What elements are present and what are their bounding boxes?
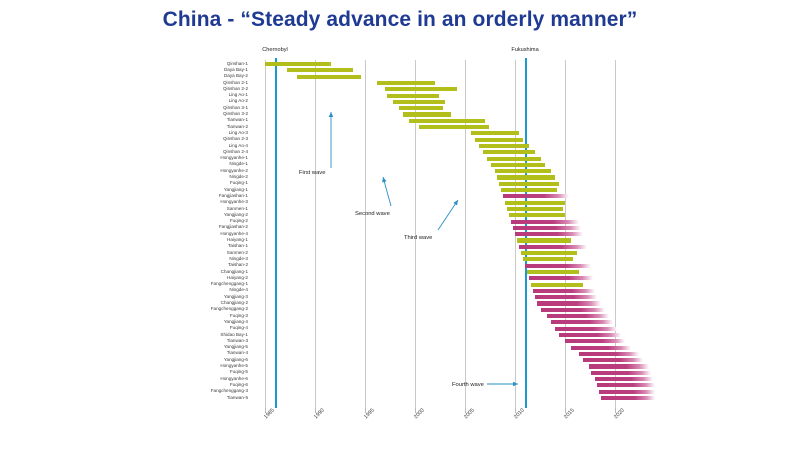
annotation-label-third-wave: Third wave: [404, 235, 432, 241]
gantt-bar: [595, 377, 653, 381]
gantt-bar: [513, 226, 581, 230]
y-axis-label: Qinshan 2-2: [223, 87, 248, 92]
y-axis-label: Yangjiang-6: [224, 358, 248, 363]
gantt-bar: [419, 125, 489, 129]
gantt-bar: [387, 94, 439, 98]
gantt-bar: [599, 390, 655, 394]
gantt-bar: [547, 314, 609, 318]
gantt-bar: [521, 251, 577, 255]
y-axis-label: Fuqing-2: [230, 219, 248, 224]
y-axis-label: Fuqing-6: [230, 383, 248, 388]
gridline-1990: [315, 60, 316, 408]
y-axis-label: Hongyanhe-4: [220, 232, 248, 237]
y-axis-label: Tianwan-1: [227, 118, 248, 123]
annotation-label-first-wave: First wave: [299, 170, 325, 176]
gantt-bar: [527, 270, 579, 274]
gantt-bar: [509, 213, 565, 217]
gantt-bar: [511, 220, 579, 224]
gantt-bar: [551, 320, 613, 324]
gantt-bar: [491, 163, 545, 167]
y-axis-label: Fangchenggang-1: [211, 282, 248, 287]
y-axis-label: Yangjiang-1: [224, 188, 248, 193]
gantt-bar: [555, 327, 617, 331]
gantt-bar: [519, 245, 587, 249]
gantt-bar: [579, 352, 639, 356]
y-axis-label: Hongyanhe-6: [220, 377, 248, 382]
gantt-bar: [559, 333, 621, 337]
gantt-bar: [475, 138, 523, 142]
y-axis-label: Fangjiashan-2: [219, 225, 248, 230]
gantt-bar: [483, 150, 535, 154]
gantt-bar: [409, 119, 485, 123]
gantt-bar: [537, 301, 601, 305]
y-axis-label: Taishan-2: [228, 263, 248, 268]
gantt-bar: [503, 194, 569, 198]
gantt-chart: ChernobylFukushima Qinshan-1Daya Bay-1Da…: [0, 46, 800, 450]
y-axis-label: Qinshan 2-3: [223, 137, 248, 142]
y-axis-label: Qinshan 2-4: [223, 150, 248, 155]
y-axis-label: Fangjiashan-1: [219, 194, 248, 199]
y-axis-label: Hongyanhe-3: [220, 200, 248, 205]
event-line-chernobyl: [275, 58, 277, 408]
gantt-bar: [507, 207, 563, 211]
gridline-1995: [365, 60, 366, 408]
gantt-bar: [297, 75, 361, 79]
annotation-arrow-icon: [479, 376, 526, 392]
y-axis-label: Tianwan-4: [227, 351, 248, 356]
y-axis-label: Fangchenggang-3: [211, 389, 248, 394]
event-label-fukushima: Fukushima: [511, 47, 538, 53]
gantt-bar: [517, 238, 571, 242]
y-axis-label: Ling Ao-1: [229, 93, 248, 98]
gantt-bar: [393, 100, 445, 104]
y-axis-label: Tianwan-2: [227, 125, 248, 130]
page-title: China - “Steady advance in an orderly ma…: [0, 8, 800, 32]
y-axis-label: Ling Ao-3: [229, 131, 248, 136]
gantt-bar: [499, 182, 559, 186]
gantt-bar: [497, 175, 555, 179]
gantt-bar: [565, 339, 625, 343]
gantt-bar: [523, 257, 573, 261]
annotation-arrow-icon: [430, 192, 466, 238]
y-axis-label: Qinshan 3-2: [223, 112, 248, 117]
gantt-bar: [529, 276, 593, 280]
y-axis-label: Yangjiang-5: [224, 345, 248, 350]
gantt-bar: [403, 112, 451, 116]
y-axis-label: Fuqing-5: [230, 370, 248, 375]
y-axis-label: Yangjiang-4: [224, 320, 248, 325]
y-axis-label: Ling Ao-4: [229, 144, 248, 149]
y-axis-label: Yangjiang-3: [224, 295, 248, 300]
y-axis-label: Ningde-4: [229, 288, 248, 293]
y-axis-label: Ningde-3: [229, 257, 248, 262]
gantt-bar: [541, 308, 605, 312]
y-axis-label: Daya Bay-1: [224, 68, 248, 73]
annotation-arrow-icon: [323, 104, 339, 176]
gantt-bar: [487, 157, 541, 161]
y-axis-label: Qinshan 3-1: [223, 106, 248, 111]
y-axis-label: Fuqing-4: [230, 326, 248, 331]
gantt-bar: [505, 201, 565, 205]
y-axis-label: Fuqing-3: [230, 314, 248, 319]
gantt-bar: [583, 358, 643, 362]
y-axis-label: Daya Bay-2: [224, 74, 248, 79]
y-axis-label: Tianwan-5: [227, 396, 248, 401]
y-axis-label: Qinshan-1: [227, 62, 248, 67]
y-axis-label: Hongyanhe-2: [220, 169, 248, 174]
gantt-bar: [571, 346, 631, 350]
gantt-bar: [525, 264, 591, 268]
event-label-chernobyl: Chernobyl: [262, 47, 288, 53]
annotation-arrow-icon: [375, 169, 399, 214]
gantt-bar: [589, 364, 649, 368]
gantt-bar: [591, 371, 651, 375]
y-axis-label: Qinshan 2-1: [223, 81, 248, 86]
y-axis-label: Changjiang-1: [221, 270, 248, 275]
slide-canvas: China - “Steady advance in an orderly ma…: [0, 0, 800, 450]
gantt-bar: [385, 87, 457, 91]
y-axis-label: Haiyang-2: [227, 276, 248, 281]
gantt-bar: [531, 283, 583, 287]
y-axis-label: Tianwan-3: [227, 339, 248, 344]
gantt-bar: [597, 383, 655, 387]
gridline-1985: [265, 60, 266, 408]
y-axis-label: Shidao Bay-1: [220, 333, 248, 338]
y-axis-label: Fuqing-1: [230, 181, 248, 186]
gantt-bar: [399, 106, 443, 110]
gantt-bar: [471, 131, 519, 135]
y-axis-label: Taishan-1: [228, 244, 248, 249]
gantt-bar: [515, 232, 583, 236]
gantt-bar: [479, 144, 529, 148]
gantt-bar: [533, 289, 595, 293]
gantt-bar: [535, 295, 597, 299]
y-axis-label: Ningde-2: [229, 175, 248, 180]
y-axis-labels: Qinshan-1Daya Bay-1Daya Bay-2Qinshan 2-1…: [0, 46, 248, 450]
y-axis-label: Ningde-1: [229, 162, 248, 167]
gantt-bar: [601, 396, 655, 400]
y-axis-label: Haiyang-1: [227, 238, 248, 243]
gantt-bar: [501, 188, 557, 192]
y-axis-label: Ling Ao-2: [229, 99, 248, 104]
gantt-bar: [377, 81, 435, 85]
y-axis-label: Sanmen-1: [227, 207, 248, 212]
gantt-bar: [495, 169, 551, 173]
gantt-bar: [287, 68, 353, 72]
y-axis-label: Sanmen-2: [227, 251, 248, 256]
gantt-bar: [265, 62, 331, 66]
y-axis-label: Fangchenggang-2: [211, 307, 248, 312]
y-axis-label: Hongyanhe-1: [220, 156, 248, 161]
y-axis-label: Changjiang-2: [221, 301, 248, 306]
y-axis-label: Yangjiang-2: [224, 213, 248, 218]
y-axis-label: Hongyanhe-5: [220, 364, 248, 369]
